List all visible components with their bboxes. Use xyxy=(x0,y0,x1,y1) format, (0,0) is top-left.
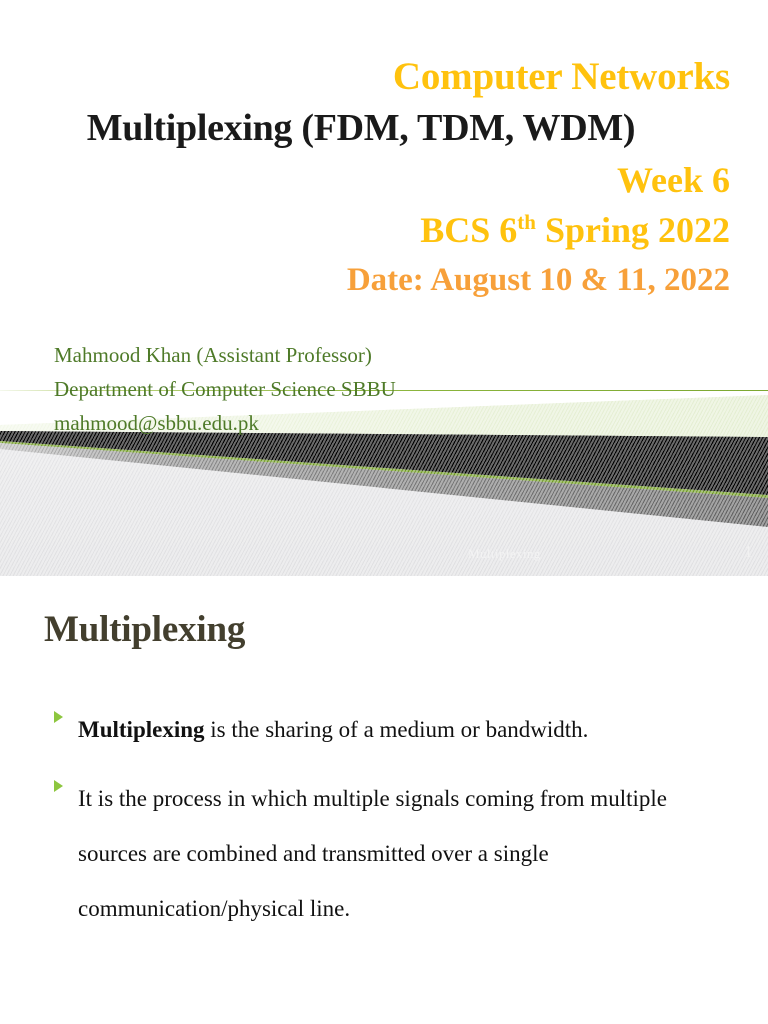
slide-title-line-5: Date: August 10 & 11, 2022 xyxy=(0,255,730,305)
triangle-bullet-icon xyxy=(54,711,63,723)
author-email: mahmood@sbbu.edu.pk xyxy=(54,406,396,440)
bullet-bold-lead: Multiplexing xyxy=(78,717,205,742)
list-item: Multiplexing is the sharing of a medium … xyxy=(50,702,740,757)
slide-title-line-2: Multiplexing (FDM, TDM, WDM) xyxy=(0,102,730,155)
author-block: Mahmood Khan (Assistant Professor) Depar… xyxy=(54,338,396,440)
bcs-prefix: BCS 6 xyxy=(420,210,517,250)
bullet-text: Multiplexing is the sharing of a medium … xyxy=(78,717,588,742)
bcs-superscript: th xyxy=(517,210,536,234)
page-number: 1 xyxy=(744,542,753,562)
content-heading: Multiplexing xyxy=(44,608,245,651)
author-department: Department of Computer Science SBBU xyxy=(54,372,396,406)
footer-watermark: Multiplexing xyxy=(468,546,541,562)
slide-title-line-3: Week 6 xyxy=(0,155,730,205)
bullet-list: Multiplexing is the sharing of a medium … xyxy=(50,702,740,950)
slide-title-line-4: BCS 6th Spring 2022 xyxy=(0,205,730,255)
title-slide: Computer Networks Multiplexing (FDM, TDM… xyxy=(0,0,768,576)
triangle-bullet-icon xyxy=(54,780,63,792)
slide-title-line-1: Computer Networks xyxy=(0,52,730,102)
bullet-rest: It is the process in which multiple sign… xyxy=(78,786,667,921)
bcs-suffix: Spring 2022 xyxy=(536,210,730,250)
bullet-rest: is the sharing of a medium or bandwidth. xyxy=(205,717,589,742)
content-slide: Multiplexing Multiplexing is the sharing… xyxy=(0,576,768,1024)
author-name: Mahmood Khan (Assistant Professor) xyxy=(54,338,396,372)
list-item: It is the process in which multiple sign… xyxy=(50,771,740,936)
title-block: Computer Networks Multiplexing (FDM, TDM… xyxy=(0,52,730,305)
bullet-text: It is the process in which multiple sign… xyxy=(78,786,667,921)
